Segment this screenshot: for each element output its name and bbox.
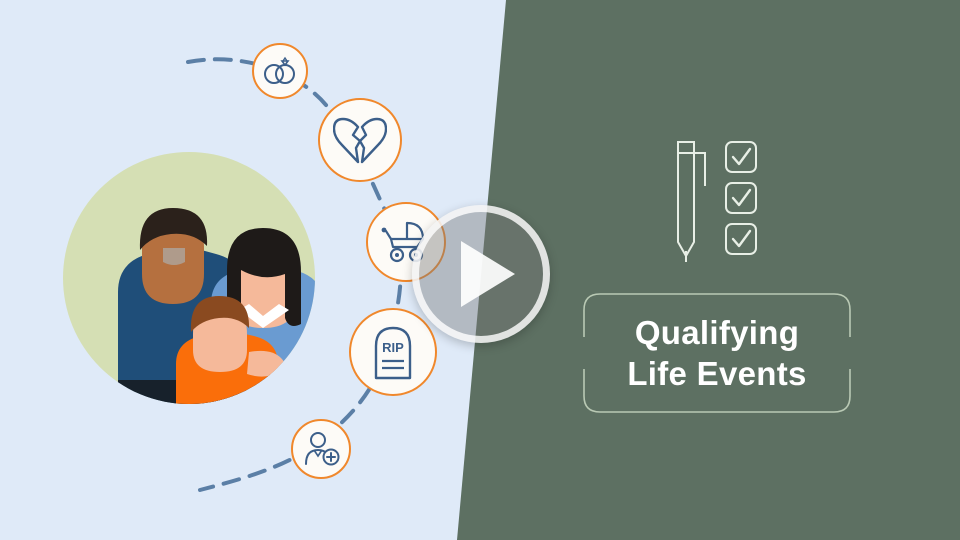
title-line-1: Qualifying [635,312,799,353]
play-button[interactable] [412,205,550,343]
wedding-rings-icon[interactable] [252,43,308,99]
add-person-icon[interactable] [291,419,351,479]
pen-and-checklist-icon [664,138,784,263]
play-triangle-icon [461,241,515,307]
family-illustration [63,152,315,404]
title-line-2: Life Events [627,353,806,394]
page-title: Qualifying Life Events [583,293,851,413]
video-frame: RIP [0,0,960,540]
broken-heart-icon[interactable] [318,98,402,182]
tombstone-icon[interactable]: RIP [349,308,437,396]
tombstone-label: RIP [382,340,404,355]
title-card: Qualifying Life Events [583,293,851,413]
